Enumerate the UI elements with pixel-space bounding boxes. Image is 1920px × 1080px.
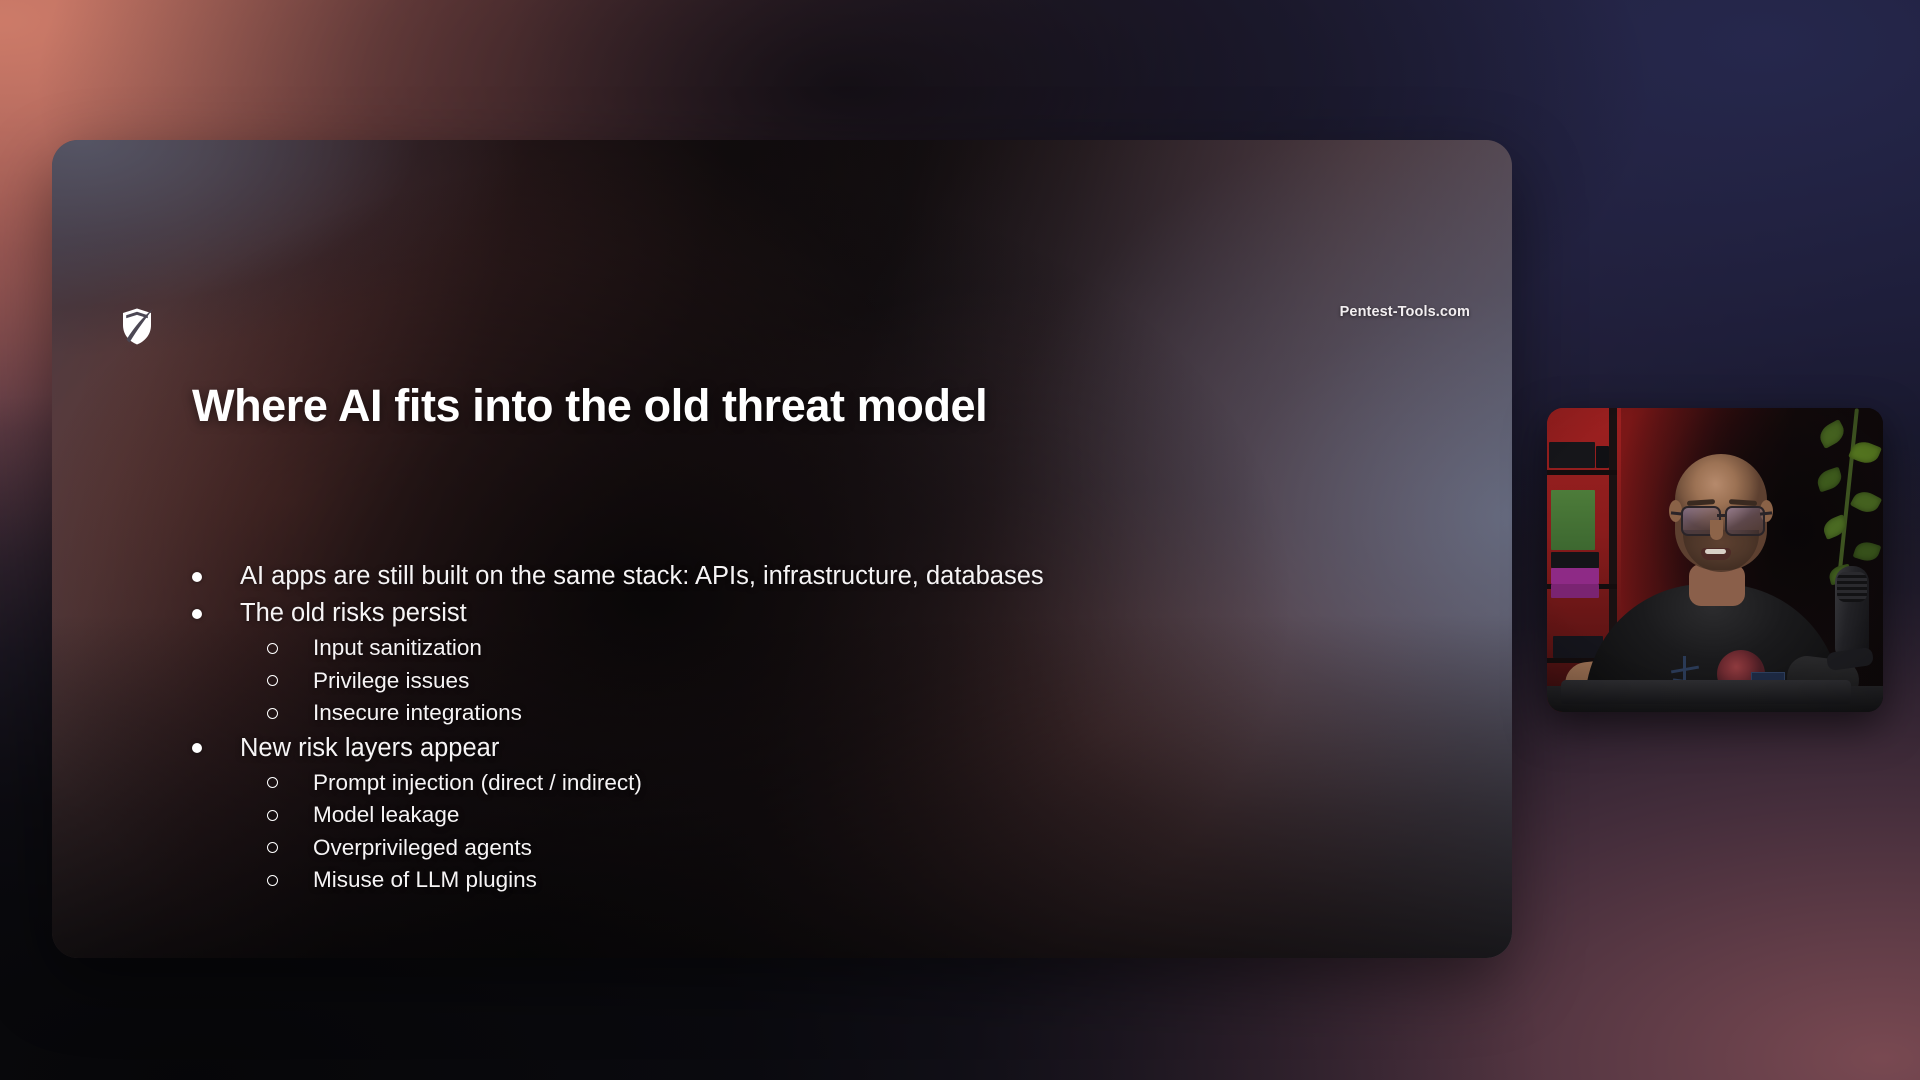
bullet-marker-circle-icon	[267, 767, 313, 800]
bullet-item: The old risks persist	[192, 595, 1152, 632]
bullet-marker-disc-icon	[192, 730, 240, 767]
slide-card: Pentest-Tools.com Where AI fits into the…	[52, 140, 1512, 958]
sub-bullet-item: Misuse of LLM plugins	[267, 864, 1152, 897]
sub-bullet-text: Misuse of LLM plugins	[313, 864, 1152, 897]
presentation-screen: Pentest-Tools.com Where AI fits into the…	[0, 0, 1920, 1080]
presenter-camera-feed[interactable]	[1547, 408, 1883, 712]
sub-bullet-item: Overprivileged agents	[267, 832, 1152, 865]
sub-bullet-text: Insecure integrations	[313, 697, 1152, 730]
bullet-text: AI apps are still built on the same stac…	[240, 558, 1152, 595]
bullet-text: New risk layers appear	[240, 730, 1152, 767]
sub-bullet-item: Input sanitization	[267, 632, 1152, 665]
brand-wordmark: Pentest-Tools.com	[1340, 304, 1470, 320]
sub-bullet-text: Prompt injection (direct / indirect)	[313, 767, 1152, 800]
sub-bullet-item: Insecure integrations	[267, 697, 1152, 730]
sub-bullet-item: Model leakage	[267, 799, 1152, 832]
sub-bullet-item: Prompt injection (direct / indirect)	[267, 767, 1152, 800]
sub-bullet-item: Privilege issues	[267, 665, 1152, 698]
bullet-marker-circle-icon	[267, 665, 313, 698]
sub-bullet-text: Model leakage	[313, 799, 1152, 832]
bullet-marker-disc-icon	[192, 558, 240, 595]
bullet-item: AI apps are still built on the same stac…	[192, 558, 1152, 595]
sub-bullet-text: Privilege issues	[313, 665, 1152, 698]
bullet-item: New risk layers appear	[192, 730, 1152, 767]
bullet-marker-circle-icon	[267, 632, 313, 665]
slide-title: Where AI fits into the old threat model	[192, 380, 987, 432]
bullet-marker-circle-icon	[267, 799, 313, 832]
camera-vignette	[1547, 408, 1883, 712]
bullet-marker-circle-icon	[267, 832, 313, 865]
sub-bullet-text: Overprivileged agents	[313, 832, 1152, 865]
shield-icon	[120, 306, 154, 346]
bullet-list: AI apps are still built on the same stac…	[192, 558, 1152, 897]
bullet-marker-disc-icon	[192, 595, 240, 632]
sub-bullet-text: Input sanitization	[313, 632, 1152, 665]
bullet-marker-circle-icon	[267, 864, 313, 897]
bullet-text: The old risks persist	[240, 595, 1152, 632]
bullet-marker-circle-icon	[267, 697, 313, 730]
slide-content: Pentest-Tools.com Where AI fits into the…	[52, 140, 1512, 958]
